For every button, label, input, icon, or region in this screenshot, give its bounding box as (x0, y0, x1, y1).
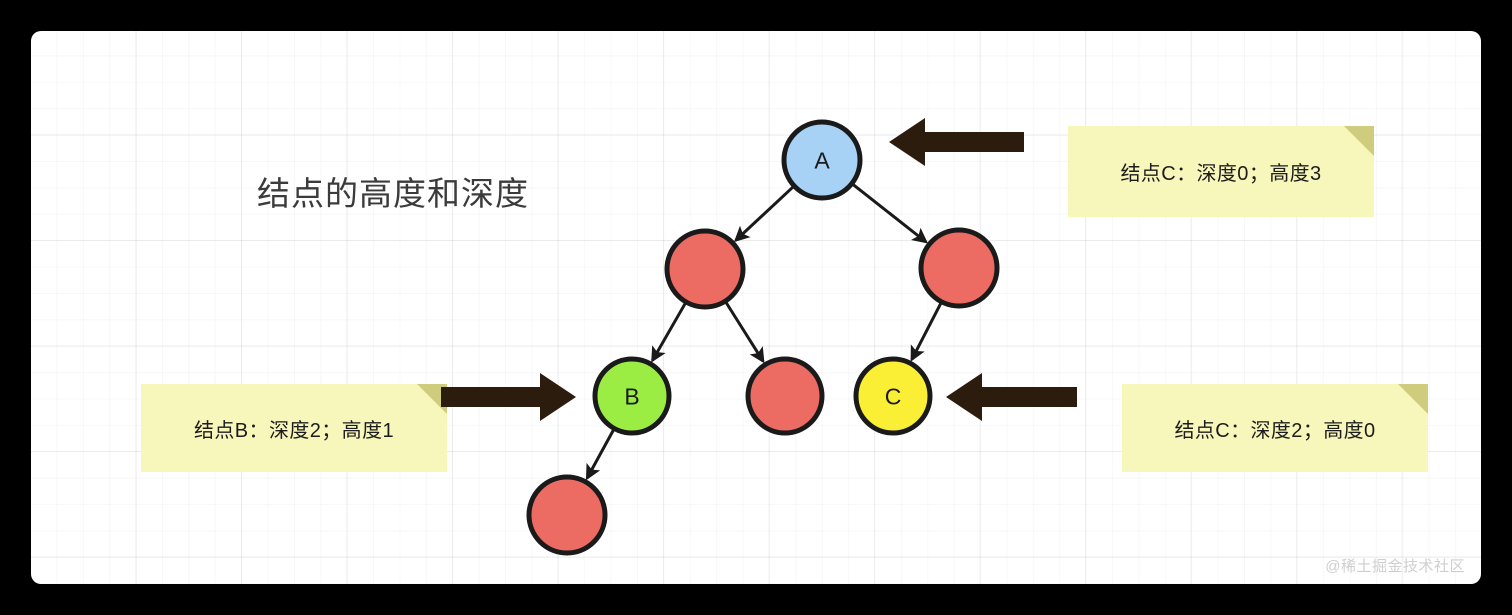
note-text: 结点B：深度2；高度1 (194, 414, 394, 443)
page-title: 结点的高度和深度 (257, 173, 529, 214)
note-node-b: 结点B：深度2；高度1 (141, 384, 447, 472)
note-node-a: 结点C：深度0；高度3 (1068, 126, 1374, 217)
note-text: 结点C：深度0；高度3 (1120, 157, 1321, 186)
watermark: @稀土掘金技术社区 (1325, 555, 1465, 576)
diagram-canvas: 结点的高度和深度 结点C：深度0；高度3 结点B：深度2；高度1 结点C：深度2… (31, 31, 1481, 584)
screenshot-root: 结点的高度和深度 结点C：深度0；高度3 结点B：深度2；高度1 结点C：深度2… (0, 0, 1512, 615)
note-fold-corner-icon (1398, 384, 1428, 414)
note-fold-corner-icon (417, 384, 447, 414)
note-fold-corner-icon (1344, 126, 1374, 156)
note-node-c: 结点C：深度2；高度0 (1122, 384, 1428, 472)
note-text: 结点C：深度2；高度0 (1174, 414, 1375, 443)
